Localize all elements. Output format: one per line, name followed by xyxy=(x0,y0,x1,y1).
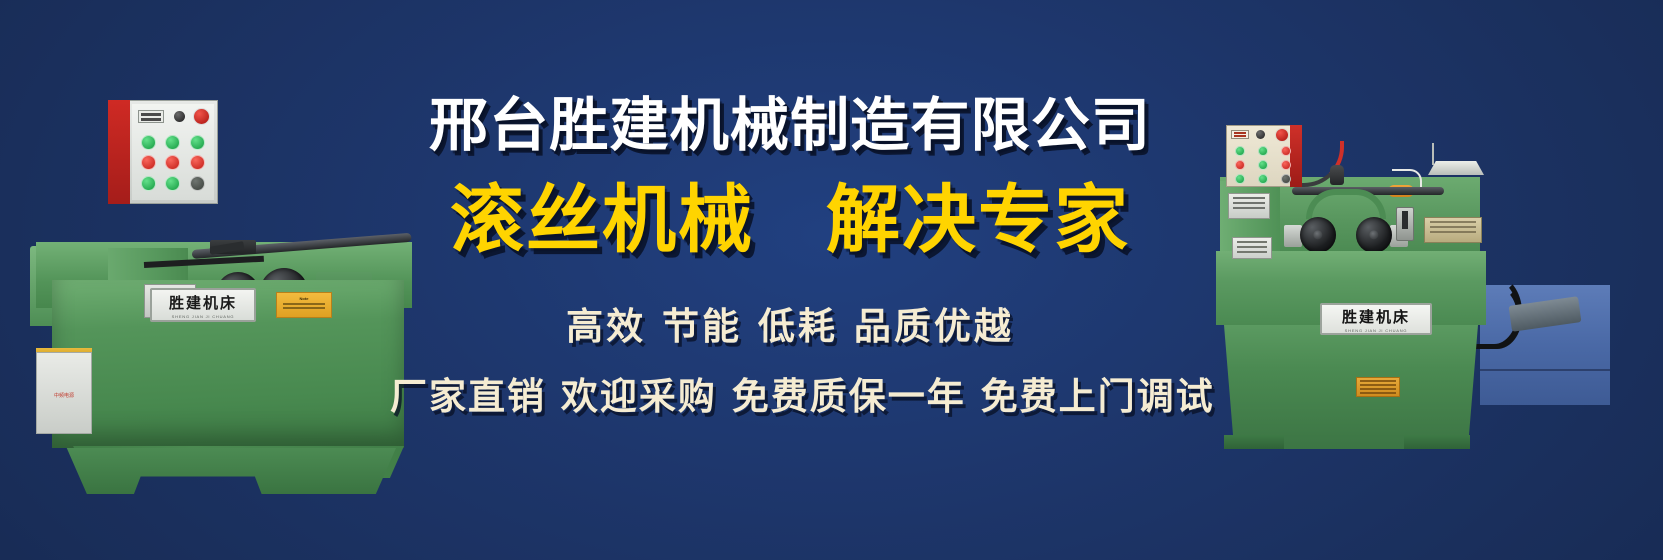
right-machine-nameplate-cn: 胜建机床 xyxy=(1342,306,1410,327)
right-machine-button-9[interactable] xyxy=(1281,174,1291,184)
left-machine-display xyxy=(138,110,164,123)
left-machine-button-2[interactable] xyxy=(165,135,180,150)
right-machine-selector-knob[interactable] xyxy=(1256,130,1265,139)
company-name: 邢台胜建机械制造有限公司 xyxy=(382,95,1198,156)
right-machine-brass-plate xyxy=(1424,217,1482,243)
left-machine-warning-label: Note xyxy=(276,292,332,318)
right-machine-foot-right xyxy=(1404,435,1470,449)
right-machine-spec-plate xyxy=(1228,193,1270,219)
right-machine-button-5[interactable] xyxy=(1258,160,1268,170)
left-machine-nameplate-en: SHENG JIAN JI CHUANG xyxy=(172,314,235,319)
right-machine-nameplate: 胜建机床 SHENG JIAN JI CHUANG xyxy=(1320,303,1432,335)
left-machine-cabinet-text: 中频电源 xyxy=(44,392,84,402)
right-machine-button-3[interactable] xyxy=(1281,146,1291,156)
right-machine-emergency-stop-button[interactable] xyxy=(1275,128,1289,142)
left-machine-button-9[interactable] xyxy=(190,176,205,191)
right-machine-foot-left xyxy=(1224,435,1284,449)
left-machine-selector-knob[interactable] xyxy=(174,111,185,122)
right-machine-feed-table xyxy=(1428,161,1484,175)
right-machine-warning-label xyxy=(1356,377,1400,397)
left-machine-warning-title: Note xyxy=(281,296,327,301)
thread-rolling-machine-right: 胜建机床 SHENG JIAN JI CHUANG xyxy=(1180,125,1650,445)
left-machine-panel-red-strip xyxy=(108,100,130,204)
right-machine-button-6[interactable] xyxy=(1281,160,1291,170)
right-machine-nameplate-en: SHENG JIAN JI CHUANG xyxy=(1345,328,1408,333)
right-machine-display xyxy=(1231,130,1249,139)
right-machine-skirt xyxy=(1224,325,1478,449)
tagline-secondary: 厂家直销 欢迎采购 免费质保一年 免费上门调试 xyxy=(390,366,1190,420)
left-machine-button-4[interactable] xyxy=(141,155,156,170)
right-machine-button-2[interactable] xyxy=(1258,146,1268,156)
right-machine-roller-2 xyxy=(1356,217,1392,253)
right-machine-roller-1 xyxy=(1300,217,1336,253)
right-machine-button-7[interactable] xyxy=(1235,174,1245,184)
headline-right: 解决专家 xyxy=(826,182,1130,260)
right-machine-hydraulic-seam xyxy=(1480,369,1610,371)
left-machine-button-5[interactable] xyxy=(165,155,180,170)
headline-left: 滚丝机械 xyxy=(450,182,754,260)
left-machine-base xyxy=(60,448,396,494)
left-machine-button-8[interactable] xyxy=(165,176,180,191)
right-machine-button-grid[interactable] xyxy=(1230,145,1296,185)
left-machine-nameplate-cn: 胜建机床 xyxy=(169,292,237,313)
left-machine-button-6[interactable] xyxy=(190,155,205,170)
right-machine-button-1[interactable] xyxy=(1235,146,1245,156)
left-machine-button-7[interactable] xyxy=(141,176,156,191)
right-machine-valve-block xyxy=(1396,207,1414,241)
headline-row: 滚丝机械 解决专家 xyxy=(390,182,1190,260)
right-machine-cable-head xyxy=(1330,165,1344,185)
right-machine-button-4[interactable] xyxy=(1235,160,1245,170)
promotional-banner: 胜建机床 SHENG JIAN JI CHUANG Note 中频电源 xyxy=(0,0,1663,560)
left-machine-button-grid[interactable] xyxy=(136,132,210,194)
right-machine-button-8[interactable] xyxy=(1258,174,1268,184)
banner-text-block: 邢台胜建机械制造有限公司 滚丝机械 解决专家 高效 节能 低耗 品质优越 厂家直… xyxy=(390,95,1190,420)
left-machine-button-3[interactable] xyxy=(190,135,205,150)
thread-rolling-machine-left: 胜建机床 SHENG JIAN JI CHUANG Note 中频电源 xyxy=(24,96,424,466)
right-machine-spec-plate-2 xyxy=(1232,237,1272,259)
right-machine-antenna-rod xyxy=(1432,143,1434,165)
left-machine-emergency-stop-button[interactable] xyxy=(193,108,210,125)
left-machine-button-1[interactable] xyxy=(141,135,156,150)
left-machine-nameplate: 胜建机床 SHENG JIAN JI CHUANG xyxy=(150,288,256,322)
tagline-primary: 高效 节能 低耗 品质优越 xyxy=(390,296,1190,350)
